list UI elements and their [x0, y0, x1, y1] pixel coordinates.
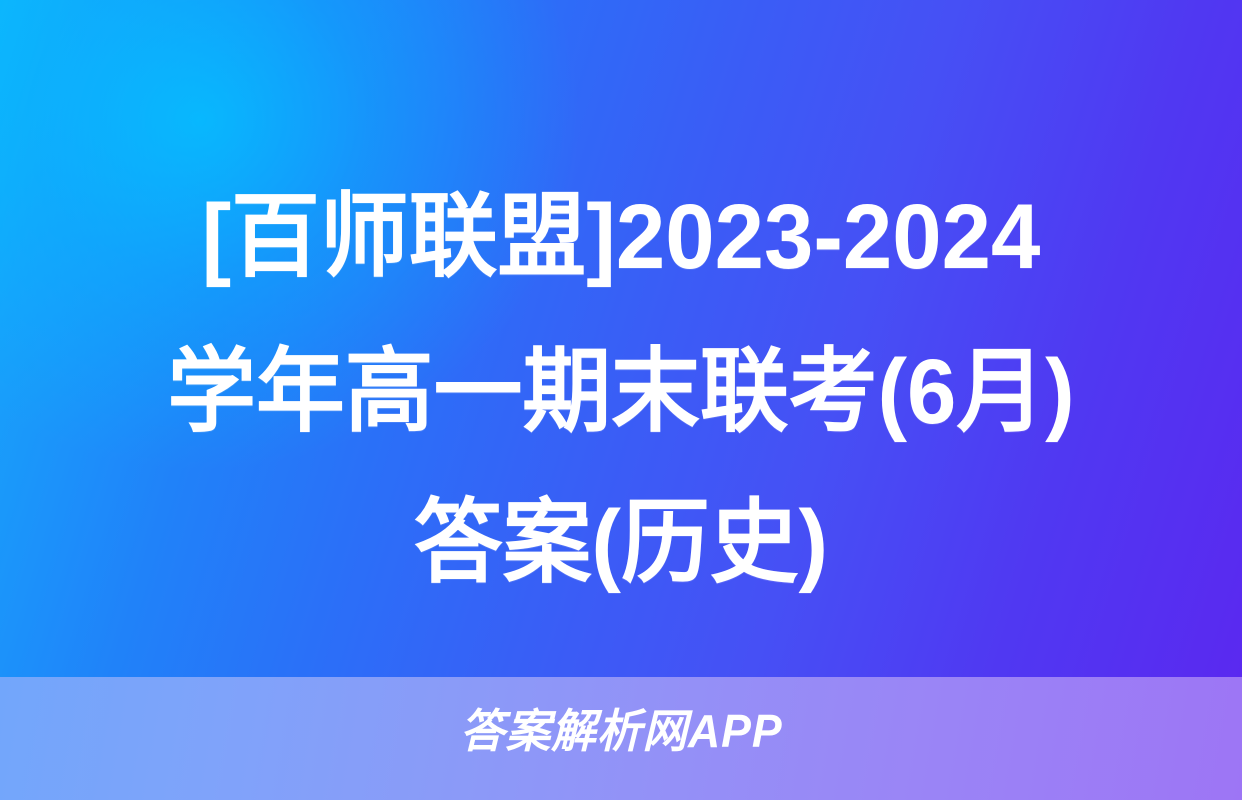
poster-title: [百师联盟]2023-2024 学年高一期末联考(6月) 答案(历史) [0, 186, 1242, 595]
footer-watermark: 答案解析网APP [0, 703, 1242, 759]
title-line-2: 学年高一期末联考(6月) [22, 341, 1221, 444]
title-line-1: [百师联盟]2023-2024 [22, 186, 1221, 289]
footer-watermark-text: 答案解析网APP [460, 703, 783, 759]
title-line-3: 答案(历史) [22, 492, 1221, 595]
poster-canvas: [百师联盟]2023-2024 学年高一期末联考(6月) 答案(历史) 答案解析… [0, 0, 1242, 800]
